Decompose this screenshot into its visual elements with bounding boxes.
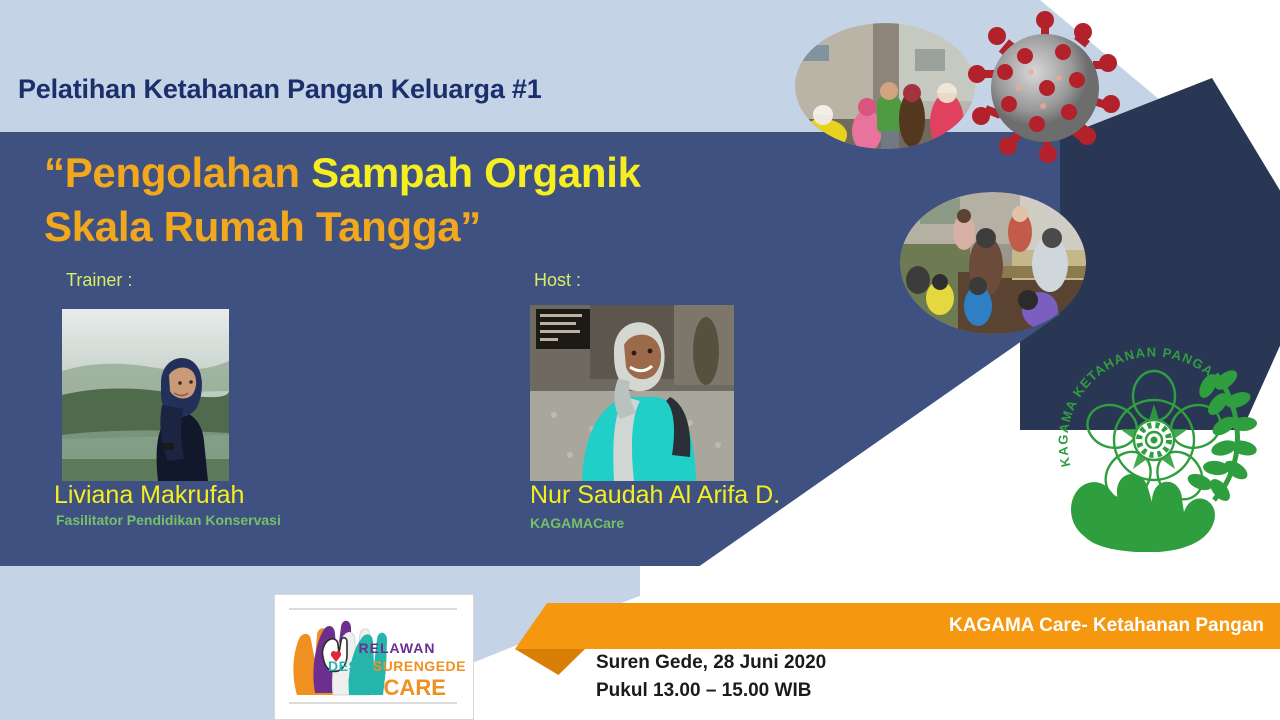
host-name: Nur Saudah Al Arifa D.: [530, 481, 780, 510]
trainer-name: Liviana Makrufah: [54, 481, 244, 510]
poster-canvas: Pelatihan Ketahanan Pangan Keluarga #1 “…: [0, 0, 1280, 720]
page-title: Pelatihan Ketahanan Pangan Keluarga #1: [18, 74, 542, 105]
community-composting-photo: [900, 192, 1086, 334]
coronavirus-icon: [965, 8, 1125, 166]
ribbon-label: KAGAMA Care- Ketahanan Pangan: [949, 615, 1264, 637]
rice-stalk-icon: [1185, 366, 1258, 504]
trainer-role-label: Trainer :: [66, 270, 132, 291]
wecare-line-1: RELAWAN: [359, 640, 436, 656]
main-title-part-1: “Pengolahan: [44, 149, 311, 196]
event-time: Pukul 13.00 – 15.00 WIB: [596, 680, 811, 702]
wecare-line-3: WECARE: [348, 675, 446, 700]
event-place-date: Suren Gede, 28 Juni 2020: [596, 652, 826, 674]
host-affiliation: KAGAMACare: [530, 515, 624, 531]
woman-in-navy-hijab-photo: [62, 309, 229, 481]
village-women-gathering-photo: [795, 23, 975, 149]
wecare-hands-logo: RELAWAN DESA SURENGEDE WECARE: [275, 595, 471, 717]
main-title: “Pengolahan Sampah Organik Skala Rumah T…: [44, 146, 744, 254]
woman-in-turquoise-jacket-photo: [530, 305, 734, 481]
host-photo: [530, 305, 734, 481]
main-title-part-3: Skala Rumah Tangga”: [44, 203, 481, 250]
kagama-logo: KAGAMA KETAHANAN PANGAN: [1048, 340, 1260, 552]
coronavirus-illustration: [965, 8, 1125, 166]
trainer-photo: [62, 309, 229, 481]
host-role-label: Host :: [534, 270, 581, 291]
kagama-ketahanan-pangan-logo: KAGAMA KETAHANAN PANGAN: [1048, 340, 1260, 552]
main-title-part-2: Sampah Organik: [311, 149, 641, 196]
kagama-arc-text: KAGAMA KETAHANAN PANGAN: [1048, 340, 1217, 468]
wecare-line-2: DESA SURENGEDE: [328, 658, 466, 674]
oval-photo-village-women: [795, 23, 975, 149]
trainer-affiliation: Fasilitator Pendidikan Konservasi: [56, 512, 281, 528]
wecare-logo-card: RELAWAN DESA SURENGEDE WECARE: [274, 594, 474, 720]
oval-photo-composting: [900, 192, 1086, 334]
